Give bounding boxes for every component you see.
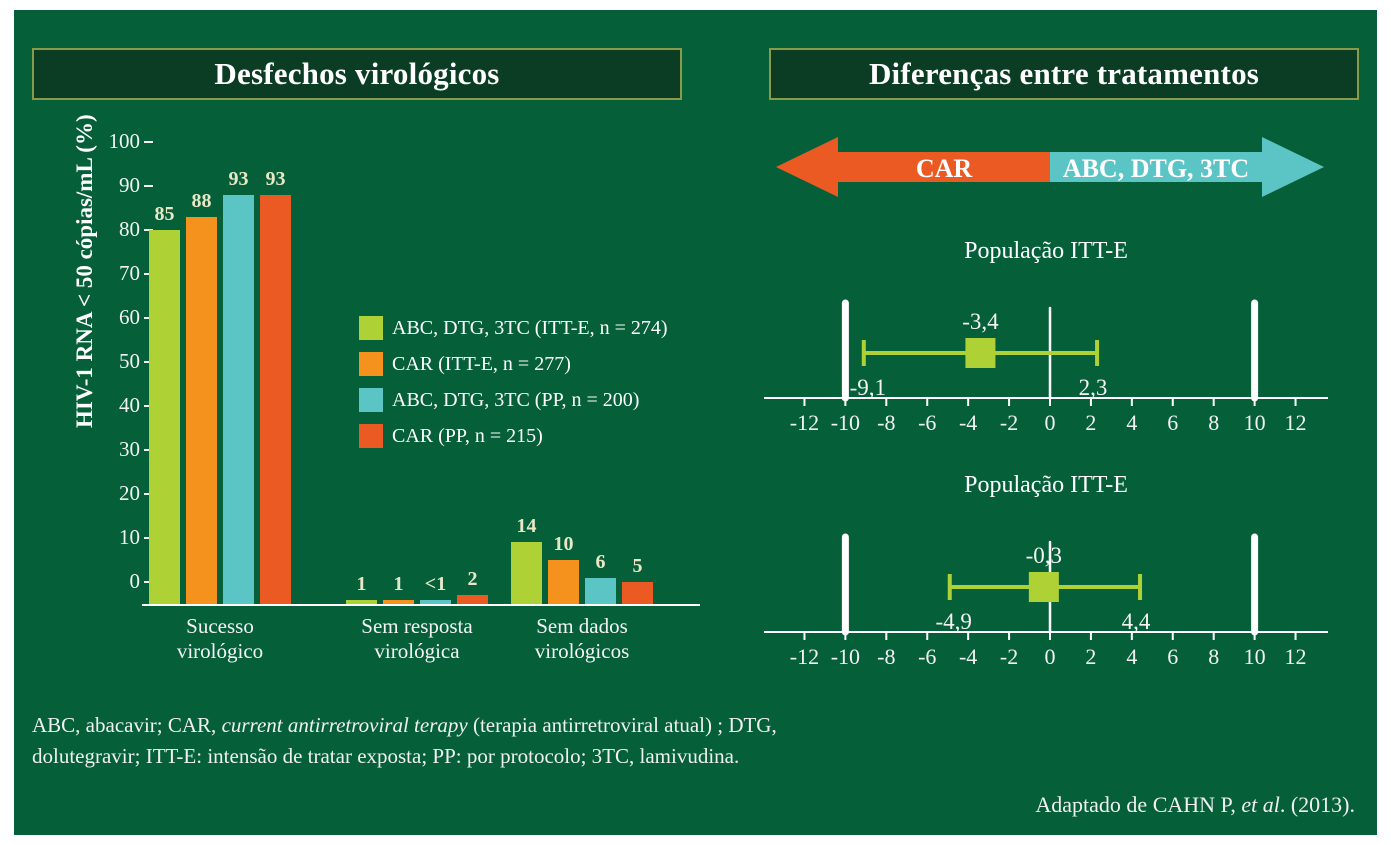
bar-value-label: <1 (425, 573, 446, 596)
legend-label: CAR (PP, n = 215) (392, 425, 543, 448)
y-tick-label: 10 (78, 525, 140, 550)
direction-arrow-svg: CAR ABC, DTG, 3TC (776, 135, 1324, 199)
forest-tick-label: 2 (1085, 644, 1096, 669)
point-estimate-label: -3,4 (962, 309, 999, 334)
forest-tick-label: 0 (1045, 644, 1056, 669)
forest-tick-label: 12 (1285, 410, 1307, 435)
ci-low-label: -9,1 (850, 375, 886, 400)
bar-value-label: 85 (155, 203, 175, 226)
forest-tick-label: -6 (918, 644, 936, 669)
footnote-1b: (terapia antirretroviral atual) ; DTG, (468, 713, 777, 737)
bar: 14 (511, 542, 542, 604)
legend-swatch (359, 424, 383, 448)
footnote-abbreviations: ABC, abacavir; CAR, current antirretrovi… (32, 710, 1132, 772)
bar: 6 (585, 578, 616, 604)
forest-title: População ITT-E (756, 472, 1336, 499)
bar-fill (186, 217, 217, 604)
forest-tick-label: 6 (1167, 644, 1178, 669)
forest-tick-label: 10 (1244, 410, 1266, 435)
panel-title-right-text: Diferenças entre tratamentos (869, 56, 1259, 92)
footnote-line-1: ABC, abacavir; CAR, current antirretrovi… (32, 710, 1132, 741)
forest-tick-label: 12 (1285, 644, 1307, 669)
legend-item: CAR (ITT-E, n = 277) (359, 346, 668, 382)
x-category-line: Sucesso (120, 614, 320, 639)
ci-high-label: 2,3 (1079, 375, 1108, 400)
source-emphasis: et al (1241, 792, 1280, 817)
source-prefix: Adaptado de CAHN P, (1035, 792, 1241, 817)
forest-tick-label: 10 (1244, 644, 1266, 669)
forest-tick-label: -12 (790, 644, 819, 669)
bar: 5 (622, 582, 653, 604)
bar-fill (149, 230, 180, 604)
legend-item: ABC, DTG, 3TC (ITT-E, n = 274) (359, 310, 668, 346)
bar: 93 (260, 195, 291, 604)
forest-tick-label: -12 (790, 410, 819, 435)
legend-label: ABC, DTG, 3TC (PP, n = 200) (392, 389, 639, 412)
bar-value-label: 93 (229, 168, 249, 191)
x-category-label: Sem dadosvirológicos (482, 614, 682, 664)
bar-fill (457, 595, 488, 604)
bar-value-label: 88 (192, 190, 212, 213)
bar-value-label: 6 (596, 551, 606, 574)
legend-swatch (359, 352, 383, 376)
forest-tick-label: -2 (1000, 410, 1018, 435)
forest-svg: -12-10-8-6-4-2024681012-0,3-4,94,4 (756, 507, 1336, 687)
forest-tick-label: -8 (877, 410, 895, 435)
y-axis-ticks: 0102030405060708090100 (74, 142, 140, 602)
forest-tick-label: 2 (1085, 410, 1096, 435)
forest-title: População ITT-E (756, 238, 1336, 265)
arrow-left-label: CAR (916, 154, 973, 183)
bar-value-label: 2 (468, 568, 478, 591)
x-category-line: Sem dados (482, 614, 682, 639)
legend-label: ABC, DTG, 3TC (ITT-E, n = 274) (392, 317, 668, 340)
bar-value-label: 93 (266, 168, 286, 191)
bar-value-label: 1 (357, 573, 367, 596)
bar-chart: HIV-1 RNA < 50 cópias/mL (%) 01020304050… (24, 120, 714, 680)
bar: 93 (223, 195, 254, 604)
bar-fill (622, 582, 653, 604)
bar: 88 (186, 217, 217, 604)
x-category-label: Sucessovirológico (120, 614, 320, 664)
panel-title-right: Diferenças entre tratamentos (769, 48, 1359, 100)
ci-high-label: 4,4 (1122, 609, 1151, 634)
y-tick-label: 70 (78, 261, 140, 286)
y-tick-label: 40 (78, 393, 140, 418)
forest-tick-label: -10 (831, 644, 860, 669)
x-category-line: virológico (120, 639, 320, 664)
legend-item: CAR (PP, n = 215) (359, 418, 668, 454)
panel-title-left: Desfechos virológicos (32, 48, 682, 100)
legend-item: ABC, DTG, 3TC (PP, n = 200) (359, 382, 668, 418)
point-estimate-marker (1029, 572, 1059, 602)
bar-fill (260, 195, 291, 604)
bar-fill (223, 195, 254, 604)
y-tick-label: 100 (78, 129, 140, 154)
x-category-line: virológicos (482, 639, 682, 664)
source-suffix: . (2013). (1280, 792, 1355, 817)
forest-tick-label: 4 (1126, 644, 1137, 669)
bar-value-label: 10 (554, 533, 574, 556)
legend-swatch (359, 316, 383, 340)
footnote-1-emphasis: current antirretroviral terapy (222, 713, 468, 737)
legend-label: CAR (ITT-E, n = 277) (392, 353, 571, 376)
bar-fill (548, 560, 579, 604)
panel-title-left-text: Desfechos virológicos (214, 56, 499, 92)
point-estimate-label: -0,3 (1026, 543, 1062, 568)
bar-fill (511, 542, 542, 604)
forest-tick-label: -2 (1000, 644, 1018, 669)
footnote-1a: ABC, abacavir; CAR, (32, 713, 222, 737)
bar: 10 (548, 560, 579, 604)
forest-plot-pp: População ITT-E -12-10-8-6-4-2024681012-… (756, 472, 1336, 687)
bar-fill (585, 578, 616, 604)
y-tick-label: 80 (78, 217, 140, 242)
footnote-line-2: dolutegravir; ITT-E: intensão de tratar … (32, 741, 1132, 772)
y-tick-label: 60 (78, 305, 140, 330)
direction-arrow: CAR ABC, DTG, 3TC (776, 135, 1324, 199)
ci-low-label: -4,9 (936, 609, 972, 634)
forest-tick-label: 0 (1045, 410, 1056, 435)
forest-tick-label: -4 (959, 410, 977, 435)
bar-group: 85889393 (149, 164, 291, 604)
point-estimate-marker (965, 338, 995, 368)
x-axis-baseline (142, 604, 700, 606)
arrow-right-label: ABC, DTG, 3TC (1063, 154, 1249, 183)
y-tick-label: 50 (78, 349, 140, 374)
forest-tick-label: 8 (1208, 410, 1219, 435)
bar-value-label: 5 (633, 555, 643, 578)
y-tick-label: 0 (78, 569, 140, 594)
forest-tick-label: 8 (1208, 644, 1219, 669)
forest-tick-label: -8 (877, 644, 895, 669)
source-attribution: Adaptado de CAHN P, et al. (2013). (1035, 792, 1355, 818)
y-tick-label: 90 (78, 173, 140, 198)
bar-value-label: 14 (517, 515, 537, 538)
bar: 85 (149, 230, 180, 604)
slide-root: Desfechos virológicos Diferenças entre t… (0, 0, 1391, 845)
forest-tick-label: -10 (831, 410, 860, 435)
forest-svg: -12-10-8-6-4-2024681012-3,4-9,12,3 (756, 273, 1336, 453)
bar-value-label: 1 (394, 573, 404, 596)
chart-legend: ABC, DTG, 3TC (ITT-E, n = 274)CAR (ITT-E… (359, 310, 668, 454)
forest-tick-label: 4 (1126, 410, 1137, 435)
forest-plot-itte: População ITT-E -12-10-8-6-4-2024681012-… (756, 238, 1336, 453)
forest-tick-label: -6 (918, 410, 936, 435)
forest-tick-label: 6 (1167, 410, 1178, 435)
bar: 2 (457, 595, 488, 604)
forest-tick-label: -4 (959, 644, 977, 669)
legend-swatch (359, 388, 383, 412)
arrow-left-shape (776, 137, 1050, 197)
y-tick-label: 20 (78, 481, 140, 506)
slide-canvas: Desfechos virológicos Diferenças entre t… (14, 10, 1377, 835)
y-tick-label: 30 (78, 437, 140, 462)
